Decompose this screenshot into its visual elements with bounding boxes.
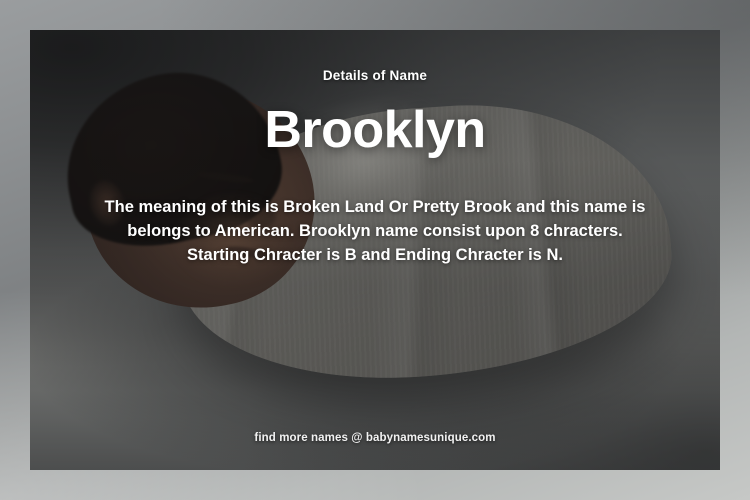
card-footer: find more names @ babynamesunique.com: [30, 428, 720, 446]
footer-site-credit: find more names @ babynamesunique.com: [254, 432, 495, 444]
page-background: Details of Name Brooklyn The meaning of …: [0, 0, 750, 500]
card-kicker-label: Details of Name: [323, 68, 427, 83]
name-meaning-description: The meaning of this is Broken Land Or Pr…: [95, 196, 655, 268]
name-detail-card: Details of Name Brooklyn The meaning of …: [30, 30, 720, 470]
page-title: Brooklyn: [264, 104, 485, 156]
card-content: Details of Name Brooklyn The meaning of …: [30, 30, 720, 470]
